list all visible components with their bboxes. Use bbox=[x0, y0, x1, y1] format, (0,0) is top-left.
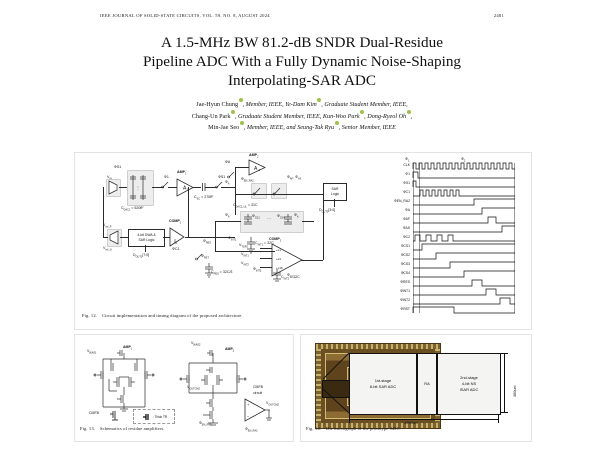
timing-label-phis1: ΦS1 bbox=[381, 181, 410, 185]
timing-label-phics1: ΦCS1 bbox=[381, 244, 410, 248]
height-dim-tick-bottom bbox=[500, 412, 508, 413]
label-dout1: DOUT1[7:0] bbox=[133, 253, 149, 259]
timing-label-phias: ΦAS bbox=[381, 226, 410, 230]
label-vref-n: Vref_N bbox=[103, 246, 112, 252]
author-sep: , bbox=[411, 113, 413, 120]
figure-12-caption: Fig. 12.Circuit implementation and timin… bbox=[82, 313, 243, 318]
figure-14-caption-text: Die micrograph of the prototype ADC. bbox=[326, 426, 401, 431]
switch-phi-a bbox=[227, 167, 236, 179]
timing-label-clk: CLK bbox=[381, 163, 410, 167]
width-dim-line bbox=[349, 419, 499, 420]
timing-label-phires: ΦRES bbox=[381, 280, 410, 284]
label-phi-a-top: ΦA bbox=[225, 160, 230, 164]
orcid-icon bbox=[407, 110, 411, 114]
timing-label-phiint1: ΦINT1 bbox=[381, 289, 410, 293]
label-cint1: CINT1 = 32C bbox=[255, 241, 274, 247]
timing-label-phi1: Φ1 bbox=[381, 172, 410, 176]
input-mux-symbol bbox=[106, 179, 120, 196]
label-phi-a-right: ΦA bbox=[294, 213, 299, 219]
figure-13-caption-text: Schematics of residue amplifiers. bbox=[100, 426, 165, 431]
label-phi-en-ra2-cmfb: ΦEN_RA2 bbox=[245, 427, 258, 433]
label-phi-cs4: ΦCS4 bbox=[277, 214, 285, 220]
comp1-symbol bbox=[169, 227, 186, 247]
figure-13-number: Fig. 13. bbox=[80, 426, 95, 431]
stage2-block: 2nd-stage 4-bit NS ISAR ADC bbox=[437, 353, 501, 415]
cdac1-cap-array: ⋮ bbox=[129, 172, 150, 203]
label-cint2: CINT2 = 32C bbox=[281, 275, 300, 281]
figure-14-number: Fig. 14. bbox=[306, 426, 321, 431]
timing-label-phiaf: ΦAF bbox=[381, 217, 410, 221]
label-phi-int2: ΦINT2 bbox=[253, 267, 261, 273]
svg-text:···: ··· bbox=[267, 216, 271, 221]
figure-13-caption: Fig. 13.Schematics of residue amplifiers… bbox=[80, 426, 165, 431]
label-phi-s1-left: ΦS1 bbox=[114, 165, 121, 169]
timing-label-phic2: ΦC2 bbox=[381, 235, 410, 239]
svg-text:⋮: ⋮ bbox=[136, 185, 140, 190]
author-list: Jae-Hyun Chung, Member, IEEE, Ye-Dam Kim… bbox=[95, 99, 509, 134]
figure-12-panel: VIN ΦS1 ⋮ CDAC1 = 520fF bbox=[74, 152, 532, 330]
figure-12-content: VIN ΦS1 ⋮ CDAC1 = 520fF bbox=[75, 153, 531, 329]
title-line-3: Interpolating-SAR ADC bbox=[95, 71, 509, 90]
label-vbias2: VBIAS2 bbox=[191, 341, 200, 347]
svg-text:+x1: +x1 bbox=[276, 248, 281, 252]
stage2-line3: ISAR ADC bbox=[460, 387, 479, 393]
amp2-symbol: A 2 bbox=[248, 159, 267, 176]
label-cmfb-circuit-l1: CMFB bbox=[253, 385, 263, 389]
timing-label-phics4: ΦCS4 bbox=[381, 271, 410, 275]
journal-title-text: IEEE JOURNAL OF SOLID-STATE CIRCUITS, VO… bbox=[100, 13, 270, 18]
label-vint2: VINT2 bbox=[241, 261, 249, 267]
thick-tr-icon bbox=[141, 412, 151, 422]
timing-label-phic1: ΦC1 bbox=[381, 190, 410, 194]
label-cdac2-ul: CDAC2_UL = 31C bbox=[233, 203, 258, 209]
dwa-sar-logic-block: 4-bit DWA & SAR Logic bbox=[128, 229, 165, 247]
author-line-3: Min-Jae Seo, Member, IEEE, and Seung-Tak… bbox=[95, 122, 509, 134]
author-line-2: Chang-Un Park, Graduate Student Member, … bbox=[95, 111, 509, 123]
label-phi1: Φ1 bbox=[164, 175, 169, 179]
label-phi-a-mid: ΦA bbox=[225, 213, 230, 219]
label-cmfb-amp1: CMFB bbox=[89, 411, 99, 415]
author-affil: , Dong-Ryeol Oh bbox=[364, 113, 406, 120]
height-dim-line bbox=[504, 353, 505, 413]
ra-block: RA bbox=[417, 353, 437, 415]
label-phi-cs1: ΦCS1 bbox=[252, 214, 260, 220]
label-phi-a-bar: ΦA bbox=[225, 180, 230, 186]
vref-mux-symbol bbox=[107, 229, 121, 246]
timing-label-phics2: ΦCS2 bbox=[381, 253, 410, 257]
author-affil: , Graduate Student Member, IEEE, Kun-Woo… bbox=[235, 113, 360, 120]
die-width-label: 1090um bbox=[404, 421, 418, 425]
sar-logic-line2: Logic bbox=[331, 192, 339, 197]
timing-label-phienra2: ΦEN_RA2 bbox=[381, 199, 410, 203]
running-head: IEEE JOURNAL OF SOLID-STATE CIRCUITS, VO… bbox=[100, 13, 504, 18]
timing-label-phirst: ΦRST bbox=[381, 307, 410, 311]
orcid-icon bbox=[231, 110, 235, 114]
label-phi-int1: ΦINT1 bbox=[228, 236, 236, 242]
author-affil: , Member, IEEE, Ye-Dam Kim bbox=[243, 101, 317, 108]
label-phi-af-as: ΦAF, ΦAS bbox=[287, 175, 301, 181]
author-affil: , Senior Member, IEEE bbox=[339, 124, 396, 131]
stage1-line2: 8-bit SAR ADC bbox=[370, 384, 396, 390]
author-name: Jae-Hyun Chung bbox=[196, 101, 238, 108]
label-phi-c1: ΦC1 bbox=[172, 247, 179, 251]
label-cres: CRES = 32C/3 bbox=[211, 270, 232, 276]
title-line-2: Pipeline ADC With a Fully Dynamic Noise-… bbox=[95, 52, 509, 71]
cdac2-cap-array: ··· bbox=[242, 213, 300, 230]
author-name: Min-Jae Seo bbox=[208, 124, 239, 131]
timing-label-phia: ΦA bbox=[381, 208, 410, 212]
label-dout2: DOUT2[3:0] bbox=[319, 208, 335, 214]
figure-12-number: Fig. 12. bbox=[82, 313, 97, 318]
cint1-cap bbox=[243, 237, 259, 257]
label-phi-en-ra2: ΦEN_RA2 bbox=[241, 177, 254, 183]
figure-12-caption-text: Circuit implementation and timing diagra… bbox=[102, 313, 243, 318]
thick-tr-legend: : Thick TR bbox=[133, 409, 175, 424]
timing-waveforms bbox=[412, 161, 524, 319]
orcid-icon bbox=[239, 98, 243, 102]
orcid-icon bbox=[335, 121, 339, 125]
author-name: Chang-Un Park bbox=[192, 113, 231, 120]
label-csc: CSC = 270fF bbox=[194, 195, 213, 201]
width-dim-tick-right bbox=[498, 415, 499, 423]
figure-14-caption: Fig. 14.Die micrograph of the prototype … bbox=[306, 426, 401, 431]
timing-diagram: Φ1 Φ2 CLK Φ1 ΦS1 ΦC1 ΦEN_RA2 ΦA ΦAF ΦAS … bbox=[381, 157, 527, 317]
orcid-icon bbox=[240, 121, 244, 125]
cmfb-transistor-amp1 bbox=[109, 409, 121, 423]
label-amp2: AMP2 bbox=[249, 153, 258, 159]
label-phi-s1-mid: ΦS1 bbox=[218, 175, 225, 179]
title-line-1: A 1.5-MHz BW 81.2-dB SNDR Dual-Residue bbox=[95, 33, 509, 52]
label-cdac1: CDAC1 = 520fF bbox=[121, 206, 144, 212]
stage1-block: 1st-stage 8-bit SAR ADC bbox=[349, 353, 417, 415]
author-affil: , Graduate Student Member, IEEE, bbox=[321, 101, 407, 108]
author-affil: , Member, IEEE, and Seung-Tak Ryu bbox=[244, 124, 334, 131]
label-amp1: AMP1 bbox=[177, 170, 186, 176]
upper-switch-pair bbox=[251, 183, 287, 198]
svg-text:+x3: +x3 bbox=[276, 257, 281, 261]
label-voutcm2-node: VOUTCM2 bbox=[187, 385, 200, 391]
switch-phi-rst bbox=[195, 251, 204, 261]
page-number: 2481 bbox=[494, 13, 504, 18]
timing-label-phiint2: ΦINT2 bbox=[381, 298, 410, 302]
timing-label-phics3: ΦCS3 bbox=[381, 262, 410, 266]
width-dim-tick-left bbox=[349, 415, 350, 423]
ra-label: RA bbox=[424, 381, 430, 387]
label-vref-p: Vref_P bbox=[103, 223, 111, 229]
die-height-label: 360um bbox=[513, 385, 517, 397]
label-phi-en-ra2-f13: ΦEN_RA2 bbox=[199, 421, 212, 427]
label-timing-phi1: Φ1 bbox=[405, 157, 409, 163]
label-cmfb-circuit-l2: circuit bbox=[253, 391, 262, 395]
label-comp1: COMP1 bbox=[169, 219, 181, 225]
orcid-icon bbox=[360, 110, 364, 114]
paper-title: A 1.5-MHz BW 81.2-dB SNDR Dual-Residue P… bbox=[95, 33, 509, 90]
label-phi-res: ΦRES bbox=[203, 239, 211, 245]
height-dim-tick-top bbox=[500, 353, 508, 354]
sar-logic-block: SAR Logic bbox=[323, 183, 347, 201]
author-line-1: Jae-Hyun Chung, Member, IEEE, Ye-Dam Kim… bbox=[95, 99, 509, 111]
label-voutcm2-out: VOUTCM2 bbox=[266, 401, 279, 407]
dwa-logic-line2: SAR Logic bbox=[137, 238, 155, 243]
journal-page: IEEE JOURNAL OF SOLID-STATE CIRCUITS, VO… bbox=[0, 0, 600, 450]
thick-tr-label: : Thick TR bbox=[153, 415, 167, 419]
